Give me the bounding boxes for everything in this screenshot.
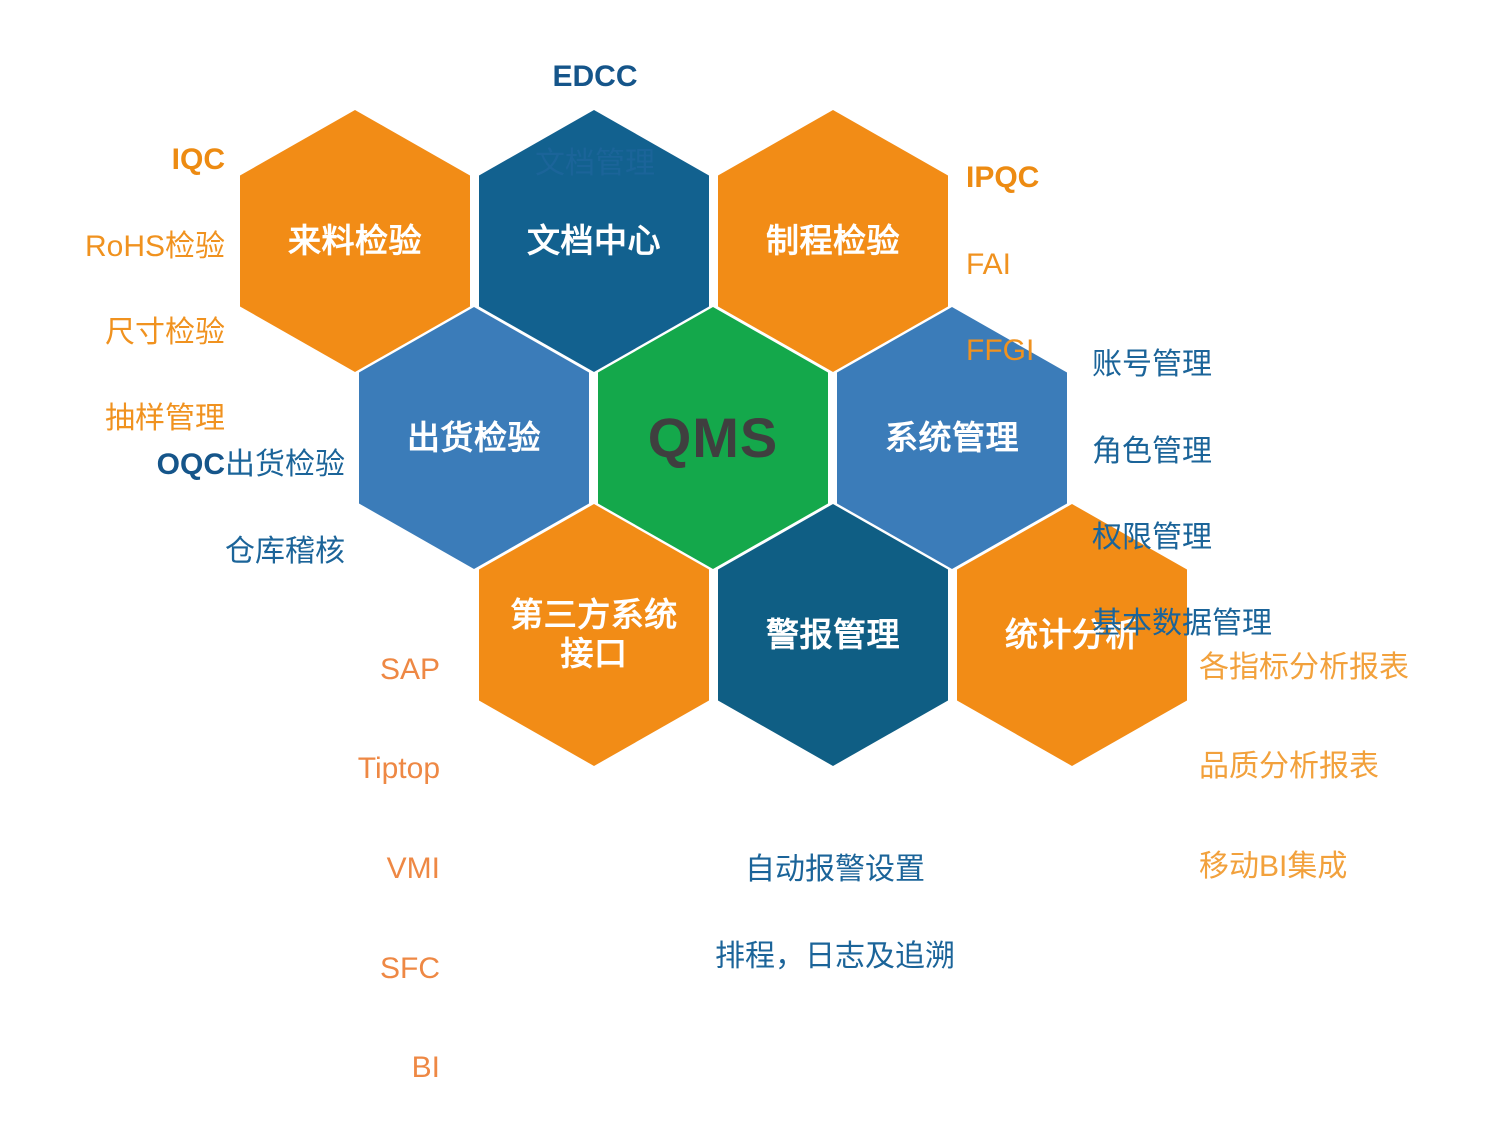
annotation-edcc-line-1: 文档管理	[455, 142, 735, 185]
annotation-ipqc-line-1: FAI	[966, 243, 1206, 286]
annotation-third-party-line-3: VMI	[300, 844, 440, 894]
annotation-system-management-line-3: 权限管理	[1092, 516, 1422, 559]
hexagon-label-outgoing-inspection: 出货检验	[407, 419, 541, 458]
annotation-third-party-line-2: Tiptop	[300, 744, 440, 794]
annotation-alarm: 自动报警设置 排程，日志及追溯	[640, 805, 1030, 1021]
annotation-oqc-heading-suffix: 出货检验	[225, 448, 345, 481]
annotation-statistics-line-1: 各指标分析报表	[1199, 643, 1489, 693]
annotation-iqc-heading: IQC	[10, 138, 225, 181]
annotation-alarm-line-2: 排程，日志及追溯	[640, 935, 1030, 978]
annotation-third-party-line-1: SAP	[300, 645, 440, 695]
annotation-iqc-line-1: RoHS检验	[10, 225, 225, 268]
annotation-system-management-line-1: 账号管理	[1092, 343, 1422, 386]
annotation-system-management-line-2: 角色管理	[1092, 430, 1422, 473]
annotation-statistics-line-2: 品质分析报表	[1199, 742, 1489, 792]
annotation-ipqc-heading: IPQC	[966, 156, 1206, 199]
annotation-third-party-line-5: BI	[300, 1043, 440, 1093]
annotation-oqc-line-1: 仓库稽核	[60, 530, 345, 573]
annotation-alarm-line-1: 自动报警设置	[640, 848, 1030, 891]
hexagon-label-alarm-management: 警报管理	[766, 616, 900, 655]
hexagon-label-system-management: 系统管理	[885, 419, 1019, 458]
annotation-oqc-heading-row: OQC出货检验	[60, 443, 345, 486]
hexagon-label-process-inspection: 制程检验	[766, 222, 900, 261]
annotation-oqc: OQC出货检验 仓库稽核	[60, 400, 345, 616]
annotation-statistics: 各指标分析报表 品质分析报表 移动BI集成	[1199, 593, 1489, 942]
annotation-third-party-line-4: SFC	[300, 944, 440, 994]
annotation-edcc: EDCC 文档管理	[455, 12, 735, 228]
hexagon-label-incoming-inspection: 来料检验	[288, 222, 422, 261]
hexagon-label-third-party-interface: 第三方系统 接口	[510, 596, 678, 674]
annotation-oqc-heading: OQC	[157, 448, 225, 481]
annotation-statistics-line-3: 移动BI集成	[1199, 842, 1489, 892]
qms-hexagon-diagram: 来料检验 文档中心 制程检验 出货检验 QMS 系统管理 第三方系统 接口 警报…	[0, 0, 1496, 918]
annotation-edcc-heading: EDCC	[455, 55, 735, 98]
hexagon-label-qms-core: QMS	[648, 405, 779, 471]
annotation-iqc-line-2: 尺寸检验	[10, 311, 225, 354]
annotation-third-party: SAP Tiptop VMI SFC BI	[300, 595, 440, 1143]
